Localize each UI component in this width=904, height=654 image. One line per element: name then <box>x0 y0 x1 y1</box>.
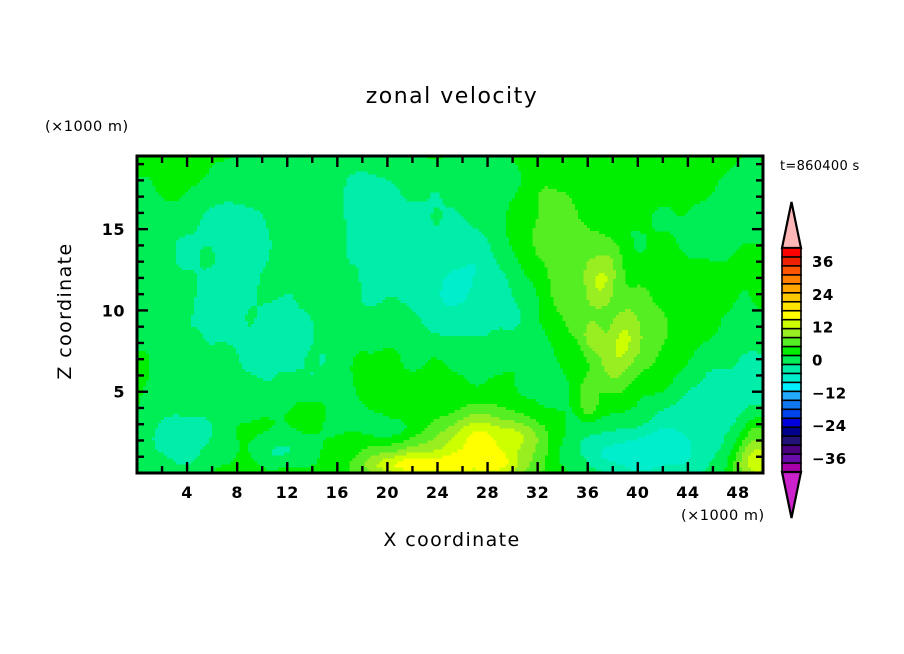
colorbar-label: 36 <box>812 253 834 271</box>
colorbar-swatch <box>782 400 801 409</box>
colorbar-bottom-arrow <box>782 472 801 518</box>
colorbar-swatch <box>782 409 801 418</box>
plot-canvas: 4812162024283236404448 51015 3624120−12−… <box>0 0 904 654</box>
colorbar-label: 24 <box>812 286 834 304</box>
colorbar-swatch <box>782 320 801 329</box>
colorbar-label: 12 <box>812 319 834 337</box>
x-tick-label: 44 <box>676 483 699 502</box>
y-axis-tick-labels: 51015 <box>102 220 125 402</box>
colorbar-swatch <box>782 391 801 400</box>
colorbar-label: −24 <box>812 417 847 435</box>
colorbar-swatch <box>782 329 801 338</box>
colorbar-label: −36 <box>812 450 847 468</box>
colorbar-swatch <box>782 356 801 365</box>
x-tick-label: 36 <box>576 483 599 502</box>
x-tick-label: 32 <box>526 483 549 502</box>
contour-field <box>137 156 764 474</box>
colorbar-swatch <box>782 302 801 311</box>
colorbar-swatch <box>782 454 801 463</box>
colorbar-label: −12 <box>812 384 847 402</box>
colorbar-swatch <box>782 275 801 284</box>
x-tick-label: 40 <box>626 483 649 502</box>
colorbar-swatch <box>782 311 801 320</box>
x-tick-label: 20 <box>376 483 399 502</box>
colorbar-swatch <box>782 284 801 293</box>
y-tick-label: 5 <box>113 383 125 402</box>
x-tick-label: 8 <box>231 483 243 502</box>
x-tick-label: 4 <box>181 483 193 502</box>
colorbar-swatch <box>782 418 801 427</box>
colorbar-swatch <box>782 445 801 454</box>
colorbar-tick-labels: 3624120−12−24−36 <box>812 253 847 468</box>
colorbar-swatch <box>782 248 801 257</box>
colorbar-swatch <box>782 382 801 391</box>
colorbar-swatch <box>782 436 801 445</box>
colorbar-swatch <box>782 257 801 266</box>
x-tick-label: 28 <box>476 483 499 502</box>
x-tick-label: 24 <box>426 483 449 502</box>
colorbar-top-arrow <box>782 202 801 248</box>
colorbar <box>782 202 801 518</box>
contour-figure: zonal velocity (×1000 m) (×1000 m) t=860… <box>0 0 904 654</box>
x-tick-label: 12 <box>276 483 299 502</box>
y-tick-label: 15 <box>102 220 125 239</box>
x-tick-label: 48 <box>726 483 749 502</box>
colorbar-swatch <box>782 293 801 302</box>
colorbar-swatch <box>782 364 801 373</box>
y-tick-label: 10 <box>102 301 125 320</box>
colorbar-swatch <box>782 347 801 356</box>
colorbar-swatch <box>782 373 801 382</box>
colorbar-swatch <box>782 427 801 436</box>
colorbar-swatch <box>782 266 801 275</box>
x-axis-tick-labels: 4812162024283236404448 <box>181 483 749 502</box>
colorbar-swatch <box>782 338 801 347</box>
x-tick-label: 16 <box>326 483 349 502</box>
colorbar-label: 0 <box>812 352 823 370</box>
